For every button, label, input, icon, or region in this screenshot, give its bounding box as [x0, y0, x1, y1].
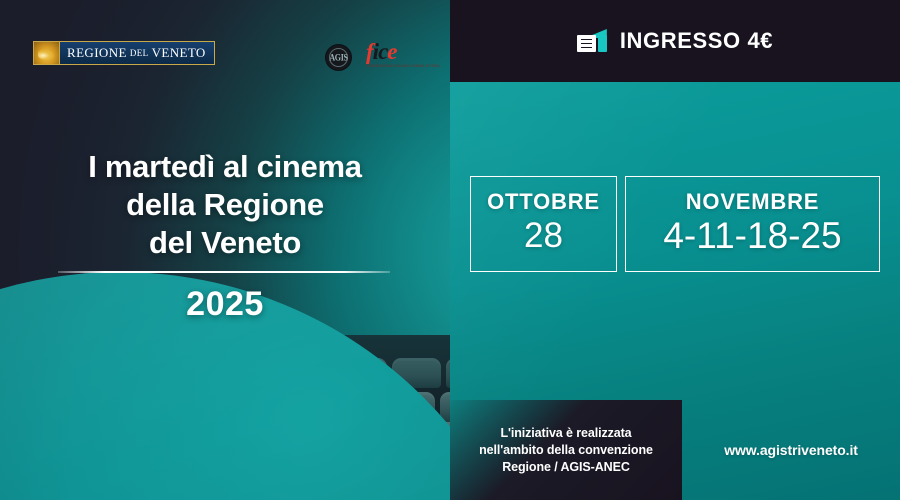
- fice-letter-c: c: [378, 39, 387, 64]
- left-panel: REGIONE DEL VENETO AGIS fice FEDERAZIONE…: [0, 0, 450, 500]
- regione-word: REGIONE: [67, 45, 127, 61]
- ticket-line: [581, 47, 592, 49]
- month-label-ottobre: OTTOBRE: [487, 189, 600, 215]
- website-url[interactable]: www.agistriveneto.it: [724, 442, 858, 458]
- initiative-note-text: L'iniziativa è realizzata nell'ambito de…: [479, 425, 653, 476]
- year-label: 2025: [0, 285, 450, 324]
- fice-letter-f: f: [366, 39, 373, 64]
- month-label-novembre: NOVEMBRE: [642, 189, 863, 215]
- headline-line-2: della Regione: [0, 186, 450, 224]
- day-list-ottobre: 28: [487, 215, 600, 257]
- agis-logo-label: AGIS: [329, 52, 347, 62]
- note-line-3: Regione / AGIS-ANEC: [479, 459, 653, 476]
- lion-of-saint-mark-icon: [34, 42, 60, 64]
- headline-line-1: I martedì al cinema: [0, 148, 450, 186]
- agis-logo[interactable]: AGIS: [325, 44, 352, 71]
- date-boxes: OTTOBRE 28 NOVEMBRE 4-11-18-25: [450, 176, 900, 272]
- ticket-front-shape: [577, 35, 596, 52]
- note-line-1: L'iniziativa è realizzata: [479, 425, 653, 442]
- fice-wordmark: fice: [366, 40, 410, 64]
- ingresso-price-label: INGRESSO 4€: [620, 28, 773, 54]
- headline-line-3: del Veneto: [0, 224, 450, 262]
- date-box-ottobre[interactable]: OTTOBRE 28: [470, 176, 617, 272]
- fice-letter-e: e: [387, 39, 396, 64]
- right-panel: INGRESSO 4€ OTTOBRE 28 NOVEMBRE 4-11-18-…: [450, 0, 900, 500]
- ticket-stub-shape: [598, 35, 607, 52]
- page-title: I martedì al cinema della Regione del Ve…: [0, 148, 450, 262]
- ticket-line: [581, 39, 592, 41]
- ticket-line: [581, 43, 592, 45]
- regione-veneto-logo[interactable]: REGIONE DEL VENETO: [33, 41, 215, 65]
- fice-logo[interactable]: fice FEDERAZIONE ITALIANA CINEMA D'ESSAI: [366, 40, 410, 74]
- fice-subtitle: FEDERAZIONE ITALIANA CINEMA D'ESSAI: [366, 64, 412, 69]
- divider: [58, 271, 390, 273]
- veneto-word: VENETO: [152, 45, 206, 61]
- cinema-tickets-icon: [577, 29, 607, 53]
- logo-row: REGIONE DEL VENETO AGIS fice FEDERAZIONE…: [0, 0, 450, 90]
- del-word: DEL: [130, 48, 149, 58]
- note-line-2: nell'ambito della convenzione: [479, 442, 653, 459]
- promo-poster: REGIONE DEL VENETO AGIS fice FEDERAZIONE…: [0, 0, 900, 500]
- regione-veneto-logo-text: REGIONE DEL VENETO: [60, 42, 214, 64]
- date-box-novembre[interactable]: NOVEMBRE 4-11-18-25: [625, 176, 880, 272]
- initiative-note-box: L'iniziativa è realizzata nell'ambito de…: [450, 400, 682, 500]
- day-list-novembre: 4-11-18-25: [642, 215, 863, 257]
- website-area: www.agistriveneto.it: [682, 400, 900, 500]
- ingresso-banner: INGRESSO 4€: [450, 0, 900, 82]
